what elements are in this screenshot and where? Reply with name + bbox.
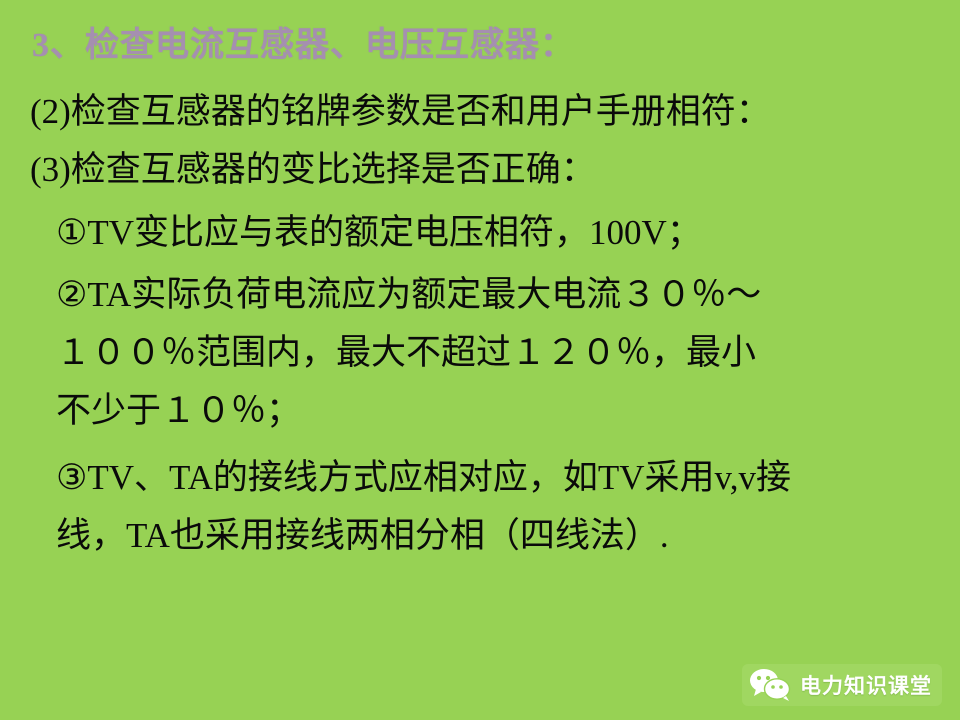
watermark: 电力知识课堂 bbox=[742, 664, 942, 706]
watermark-label: 电力知识课堂 bbox=[800, 670, 932, 700]
paragraph-sub-2-line-1: ②TA实际负荷电流应为额定最大电流３０％～ bbox=[30, 267, 930, 322]
paragraph-sub-2-line-2: １００％范围内，最大不超过１２０％，最小 bbox=[30, 325, 930, 380]
wechat-icon bbox=[748, 668, 792, 702]
slide-title: 3、检查电流互感器、电压互感器： bbox=[32, 24, 575, 68]
paragraph-item-3: (3)检查互感器的变比选择是否正确： bbox=[30, 142, 930, 197]
paragraph-item-2: (2)检查互感器的铭牌参数是否和用户手册相符： bbox=[30, 84, 930, 139]
paragraph-sub-2-line-3: 不少于１０％； bbox=[30, 383, 930, 438]
slide-canvas: 3、检查电流互感器、电压互感器： (2)检查互感器的铭牌参数是否和用户手册相符：… bbox=[0, 0, 960, 720]
paragraph-sub-3-line-1: ③TV、TA的接线方式应相对应，如TV采用v,v接 bbox=[30, 450, 930, 505]
paragraph-sub-3-line-2: 线，TA也采用接线两相分相（四线法）. bbox=[30, 508, 930, 563]
paragraph-spacer bbox=[30, 442, 930, 450]
slide-body: (2)检查互感器的铭牌参数是否和用户手册相符： (3)检查互感器的变比选择是否正… bbox=[30, 84, 930, 566]
paragraph-sub-1: ①TV变比应与表的额定电压相符，100V； bbox=[30, 205, 930, 260]
